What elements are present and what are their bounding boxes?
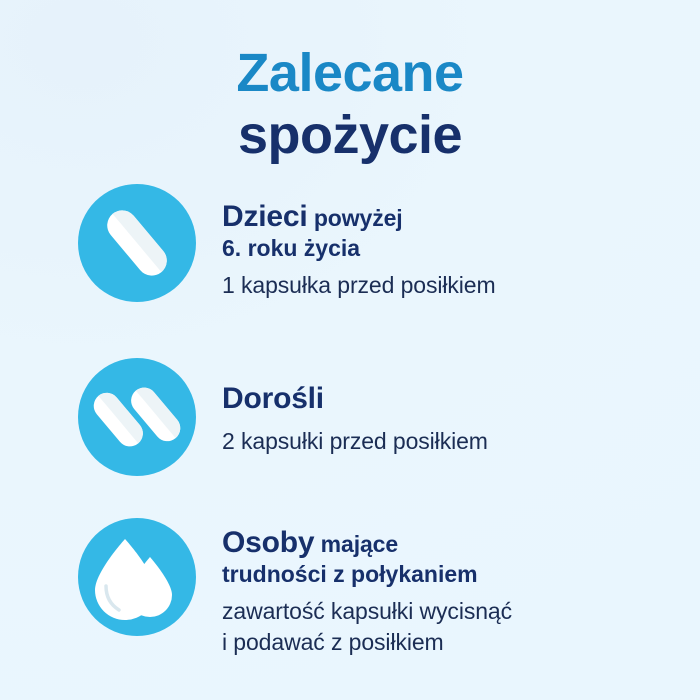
dosage-text-children: Dzieci powyżej 6. roku życia 1 kapsułka … — [222, 200, 662, 301]
heading-rest-text: mające — [321, 531, 398, 557]
heading-line-2: 6. roku życia — [222, 235, 662, 261]
dosage-body-swallowing: zawartość kapsułki wycisnąć i podawać z … — [222, 596, 662, 657]
dosage-heading-adults: Dorośli — [222, 382, 662, 416]
two-droplets-icon — [78, 518, 196, 636]
heading-line-2: trudności z połykaniem — [222, 561, 662, 587]
body-line: i podawać z posiłkiem — [222, 627, 662, 658]
body-line: zawartość kapsułki wycisnąć — [222, 596, 662, 627]
dosage-body-children: 1 kapsułka przed posiłkiem — [222, 270, 662, 301]
page-title: Zalecane spożycie — [0, 46, 700, 162]
dosage-heading-swallowing: Osoby mające trudności z połykaniem — [222, 526, 662, 587]
heading-strong: Dzieci — [222, 200, 308, 233]
dosage-text-swallowing: Osoby mające trudności z połykaniem zawa… — [222, 526, 662, 658]
heading-rest-text: powyżej — [314, 205, 403, 231]
infographic-poster: Zalecane spożycie Dzieci powyżej 6. roku… — [0, 0, 700, 700]
double-capsule-icon — [78, 358, 196, 476]
body-line: 2 kapsułki przed posiłkiem — [222, 426, 662, 457]
heading-strong: Osoby — [222, 526, 314, 559]
title-line-secondary: spożycie — [0, 108, 700, 162]
dosage-heading-children: Dzieci powyżej 6. roku życia — [222, 200, 662, 261]
heading-strong: Dorośli — [222, 382, 324, 415]
title-line-primary: Zalecane — [0, 46, 700, 100]
dosage-body-adults: 2 kapsułki przed posiłkiem — [222, 426, 662, 457]
single-capsule-icon — [78, 184, 196, 302]
dosage-text-adults: Dorośli 2 kapsułki przed posiłkiem — [222, 382, 662, 457]
body-line: 1 kapsułka przed posiłkiem — [222, 270, 662, 301]
